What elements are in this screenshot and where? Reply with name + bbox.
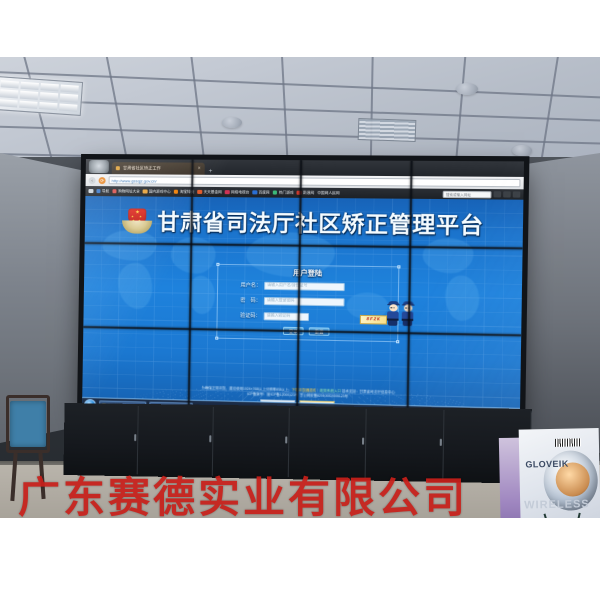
maximize-icon[interactable]: [503, 191, 511, 197]
url-text: http://www.gssqjz.gov.cn/: [112, 178, 157, 183]
bookmark-label: 新浪网: [303, 190, 314, 195]
bookmark-favicon: [143, 189, 148, 194]
username-placeholder: 请输入用户名/身份证号: [267, 283, 307, 289]
bookmark-favicon: [252, 190, 257, 195]
browser-tab[interactable]: 甘肃省社区矫正工作 ×: [112, 162, 205, 175]
resize-handle[interactable]: [215, 337, 218, 340]
resize-handle[interactable]: [397, 265, 400, 268]
page-title: 甘肃省司法厅社区矫正管理平台: [157, 205, 484, 241]
username-input[interactable]: 请输入用户名/身份证号: [264, 282, 345, 291]
ceiling-speaker: [222, 117, 242, 128]
bookmark-favicon: [112, 189, 117, 194]
password-row: 密 码： 请输入登录密码: [236, 297, 344, 306]
bookmark-item[interactable]: 淘宝特卖: [174, 189, 195, 194]
login-submit-button[interactable]: 登录: [283, 327, 304, 336]
bookmark-label: 热门游戏: [279, 190, 294, 195]
bookmark-item[interactable]: 中国网人民网: [317, 190, 339, 195]
bookmark-item[interactable]: 热门游戏: [273, 190, 294, 195]
police-mascot-icon: [386, 301, 418, 326]
tab-favicon: [116, 166, 120, 170]
captcha-label: 验证码：: [236, 312, 261, 320]
username-label: 用户名：: [236, 282, 261, 289]
bookmark-label: 天天基金网: [203, 189, 221, 194]
bookmark-item[interactable]: 导航: [96, 189, 109, 194]
bookmark-label: 购物网址大全: [118, 189, 140, 194]
web-page: ★ ★ ★ ★ ★ 甘肃省司法厅社区矫正管理平台: [82, 196, 523, 422]
bookmark-label: 中国网人民网: [317, 190, 339, 195]
login-title: 用户登陆: [218, 267, 398, 280]
password-placeholder: 请输入登录密码: [267, 298, 294, 304]
bookmark-favicon: [96, 189, 101, 194]
bookmark-favicon: [174, 189, 179, 194]
bookmark-item[interactable]: 购物网址大全: [112, 189, 140, 194]
bookmark-favicon: [273, 190, 278, 195]
product-brand-label: GLOVEIK: [525, 459, 569, 470]
product-box: GLOVEIK WIRELESS: [499, 428, 600, 518]
bookmark-favicon: [197, 190, 202, 195]
bookmark-home[interactable]: [88, 189, 93, 194]
login-reset-button[interactable]: 重置: [309, 327, 330, 336]
captcha-placeholder: 请输入验证码: [267, 314, 291, 320]
equipment-cabinets: [63, 403, 531, 484]
login-panel: 用户登陆 用户名： 请输入用户名/身份证号 密 码： 请输入登录密码 验证码： …: [216, 264, 399, 342]
ceiling-speaker: [512, 145, 532, 156]
new-tab-icon[interactable]: +: [209, 169, 213, 175]
video-wall-display: 甘肃省社区矫正工作 × + ‹ ⟳ http://www.gssqjz.gov.…: [82, 159, 524, 422]
search-input[interactable]: 搜索或输入网址: [443, 190, 492, 198]
bookmark-item[interactable]: 新浪网: [297, 190, 314, 195]
national-emblem-icon: ★ ★ ★ ★ ★: [122, 207, 153, 233]
captcha-input[interactable]: 请输入验证码: [264, 312, 309, 320]
photograph: 甘肃省社区矫正工作 × + ‹ ⟳ http://www.gssqjz.gov.…: [0, 57, 600, 518]
watermark-text: 广东赛德实业有限公司: [18, 475, 488, 518]
browser-tabstrip: 甘肃省社区矫正工作 × +: [86, 159, 524, 177]
bookmark-label: 百度网: [259, 190, 270, 195]
browser-window: 甘肃省社区矫正工作 × + ‹ ⟳ http://www.gssqjz.gov.…: [82, 159, 524, 422]
footer-text-c: 技术支持：甘肃省司法厅信息中心: [341, 389, 395, 394]
address-bar[interactable]: http://www.gssqjz.gov.cn/: [109, 176, 521, 187]
suspended-ceiling: [0, 57, 600, 169]
map-continent: [188, 276, 215, 315]
screenshot-root: 甘肃省社区矫正工作 × + ‹ ⟳ http://www.gssqjz.gov.…: [0, 0, 600, 600]
password-input[interactable]: 请输入登录密码: [264, 297, 345, 306]
bookmark-label: 淘宝特卖: [180, 189, 195, 194]
bookmark-label: 网络电视台: [231, 190, 249, 195]
letterbox-top: [0, 0, 600, 57]
product-subtitle-label: WIRELESS: [524, 498, 590, 511]
window-close-icon[interactable]: [513, 191, 521, 197]
captcha-row: 验证码： 请输入验证码: [236, 312, 309, 321]
site-header: ★ ★ ★ ★ ★ 甘肃省司法厅社区矫正管理平台: [85, 200, 524, 245]
bookmark-item[interactable]: 网络电视台: [225, 190, 250, 195]
bookmark-label: 国内游戏中心: [149, 189, 171, 194]
bookmark-favicon: [297, 190, 302, 195]
close-icon[interactable]: ×: [198, 166, 201, 172]
browser-logo-icon: [89, 160, 109, 173]
letterbox-bottom: [0, 518, 600, 600]
login-button-row: 登录 重置: [283, 327, 330, 336]
username-row: 用户名： 请输入用户名/身份证号: [236, 281, 344, 290]
captcha-image[interactable]: 8F2K: [360, 315, 387, 325]
tab-title: 甘肃省社区矫正工作: [123, 165, 161, 171]
password-label: 密 码：: [236, 297, 261, 305]
ceiling-speaker: [456, 83, 478, 95]
bookmark-item[interactable]: 天天基金网: [197, 189, 221, 194]
footer-link-gov[interactable]: 政务系统入口: [320, 389, 341, 394]
back-icon[interactable]: ‹: [89, 177, 96, 184]
browser-search-area: 搜索或输入网址: [443, 190, 521, 198]
ceiling-light-fixture: [0, 76, 83, 116]
bookmark-item[interactable]: 国内游戏中心: [143, 189, 171, 194]
ceiling-air-vent: [358, 118, 417, 142]
barcode: [555, 438, 581, 447]
minimize-icon[interactable]: [494, 191, 502, 197]
footer-link-plugin[interactable]: 下载浏览器插件: [292, 388, 317, 393]
resize-handle[interactable]: [396, 340, 399, 343]
bookmark-label: 导航: [102, 189, 109, 194]
resize-handle[interactable]: [216, 263, 219, 266]
bookmark-item[interactable]: 百度网: [252, 190, 269, 195]
search-placeholder: 搜索或输入网址: [446, 191, 471, 196]
home-icon: [88, 189, 93, 194]
reload-icon[interactable]: ⟳: [99, 177, 106, 184]
bookmark-favicon: [225, 190, 230, 195]
